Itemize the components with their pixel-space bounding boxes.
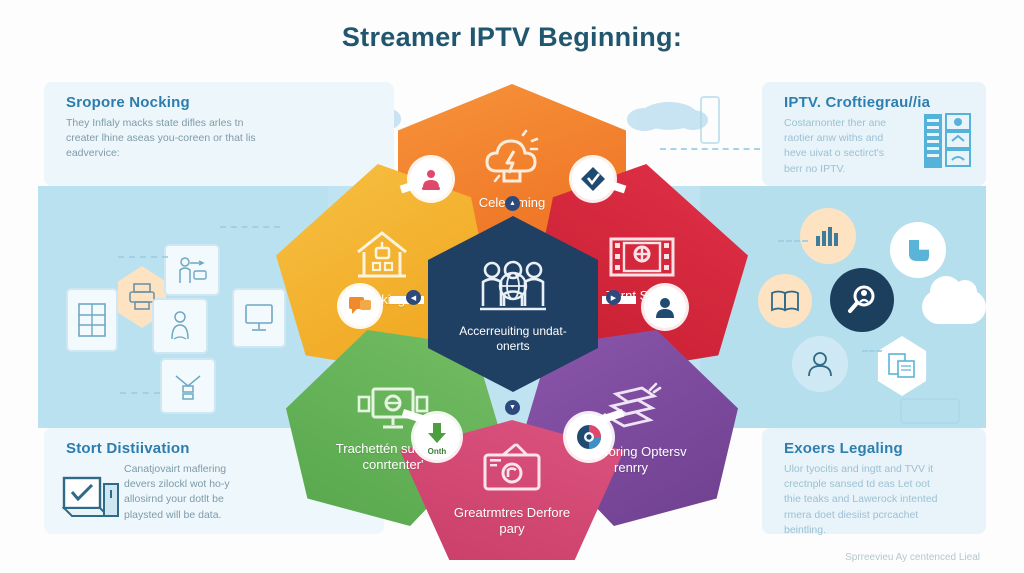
illustration-card-network <box>160 358 216 414</box>
badge-color-swirl[interactable] <box>566 414 612 460</box>
film-strip-icon <box>607 232 677 282</box>
cloud-decor-right <box>640 102 698 130</box>
page-title: Streamer IPTV Beginning: <box>0 22 1024 53</box>
person-portrait-icon <box>805 349 835 379</box>
side-icon-magnifier <box>830 268 894 332</box>
footer-caption: Sprreevieu Ay centenced Lieal <box>845 552 980 563</box>
grid-layout-icon <box>77 302 107 338</box>
panel-top-right: IPTV. Croftiegrau//ia Costarnonter ther … <box>762 82 986 186</box>
badge-download[interactable]: Onth <box>414 414 460 460</box>
diamond-check-icon <box>580 166 606 192</box>
right-flow-line-1 <box>778 240 808 242</box>
node-dot-top[interactable]: ▲ <box>505 196 520 211</box>
panel-top-left-body: They Inflaly macks state difles arles tn… <box>44 111 274 162</box>
color-swirl-icon <box>575 423 603 451</box>
left-flow-line-1 <box>118 256 168 258</box>
panel-top-right-title: IPTV. Croftiegrau//ia <box>762 82 986 111</box>
infographic-canvas: Streamer IPTV Beginning: Sropore Nocking… <box>0 0 1024 573</box>
node-dot-right-glyph: ▶ <box>611 294 616 302</box>
side-icon-portrait <box>792 336 848 392</box>
hand-pointer-icon <box>903 236 933 264</box>
chat-bubble-icon <box>348 295 372 317</box>
panel-top-right-body: Costarnonter ther ane raotier anw withs … <box>762 111 912 177</box>
node-dot-bottom-glyph: ▼ <box>509 404 516 411</box>
bar-chart-icon <box>813 223 843 249</box>
network-tree-icon <box>172 370 204 402</box>
building-server-icon <box>922 110 978 172</box>
dashed-connector-right <box>660 148 760 150</box>
tv-set-icon <box>475 443 549 499</box>
node-dot-bottom[interactable]: ▼ <box>505 400 520 415</box>
badge-chat-bubble[interactable] <box>340 286 380 326</box>
left-flow-line-3 <box>220 226 280 228</box>
side-icon-book <box>758 274 812 328</box>
decor-rect-topright <box>700 96 720 144</box>
side-icon-cloud <box>922 290 986 324</box>
illustration-card-grid <box>66 288 118 352</box>
node-dot-left-glyph: ◀ <box>411 294 416 302</box>
person-presenting-icon <box>175 255 209 285</box>
illustration-card-presenter <box>164 244 220 296</box>
badge-diamond-check[interactable] <box>572 158 614 200</box>
right-flow-line-2 <box>862 350 882 352</box>
cloud-bolt-icon <box>479 129 545 189</box>
panel-bottom-right-body: Ulor tyocitis and ingtt and TVV it crect… <box>762 457 962 538</box>
left-flow-line-2 <box>120 392 160 394</box>
decor-rect-bottomright <box>900 398 960 424</box>
petal-bottom-label: Greatrmtres Derfore pary <box>442 505 582 536</box>
node-dot-right[interactable]: ▶ <box>606 290 621 305</box>
badge-download-label: Onth <box>428 447 447 456</box>
documents-icon <box>887 352 917 380</box>
illustration-card-sitting <box>152 298 208 354</box>
center-hub-label: Accerreuiting undat-onerts <box>453 324 573 354</box>
node-dot-top-glyph: ▲ <box>509 200 516 207</box>
people-globe-icon <box>476 254 550 316</box>
node-dot-left[interactable]: ◀ <box>406 290 421 305</box>
side-icon-bar-chart <box>800 208 856 264</box>
side-icon-hand <box>890 222 946 278</box>
user-avatar-icon <box>419 167 443 191</box>
panel-bottom-right-title: Exoers Legaling <box>762 428 986 457</box>
badge-person-head[interactable] <box>644 286 686 328</box>
panel-top-left-title: Sropore Nocking <box>44 82 394 111</box>
badge-user-avatar[interactable] <box>410 158 452 200</box>
magnifier-person-icon <box>845 283 879 317</box>
download-arrow-icon <box>426 422 448 446</box>
person-sitting-icon <box>164 309 196 343</box>
desktop-monitor-icon <box>243 301 275 335</box>
checklist-document-icon <box>62 474 124 520</box>
person-head-icon <box>653 295 677 319</box>
panel-bottom-right: Exoers Legaling Ulor tyocitis and ingtt … <box>762 428 986 534</box>
home-icon <box>350 228 414 286</box>
open-book-icon <box>770 289 800 313</box>
